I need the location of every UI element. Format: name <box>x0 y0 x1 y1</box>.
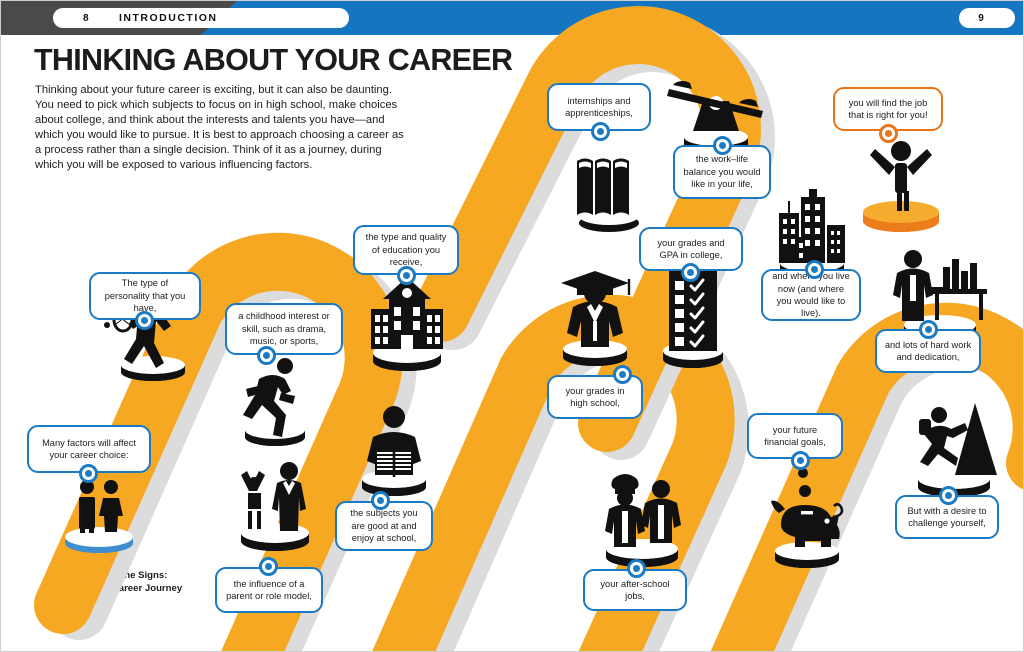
infographic-page: 8 INTRODUCTION 9 THINKING ABOUT YOUR CAR… <box>0 0 1024 652</box>
celebrating-person-icon <box>851 129 951 229</box>
callout-dot-financial <box>791 451 810 470</box>
callout-childhood[interactable]: a childhood interest or skill, such as d… <box>225 303 343 355</box>
reader-icon <box>343 401 445 501</box>
right-page-number: 9 <box>978 13 984 24</box>
callout-dot-education <box>397 266 416 285</box>
station-reader <box>343 401 445 501</box>
callout-dot-work-life <box>713 136 732 155</box>
station-checklist <box>647 267 739 371</box>
family-icon <box>221 453 329 555</box>
chef-workers-icon <box>587 467 697 571</box>
callout-dot-factors <box>79 464 98 483</box>
callout-dot-personality <box>135 311 154 330</box>
graduate-icon <box>547 263 643 373</box>
callout-dot-after-school <box>627 559 646 578</box>
callout-dot-hs-grades <box>613 365 632 384</box>
station-graduate <box>547 263 643 373</box>
station-success <box>851 129 951 229</box>
school-building-icon <box>353 273 461 377</box>
two-people-icon <box>53 471 145 561</box>
callout-dot-childhood <box>257 346 276 365</box>
callout-dot-find-job <box>879 124 898 143</box>
callout-dot-role-model <box>259 557 278 576</box>
climber-icon <box>899 397 1009 501</box>
station-books <box>561 151 657 231</box>
station-piggy-bank <box>757 469 857 569</box>
callout-dot-subjects <box>371 491 390 510</box>
callout-dot-college-gpa <box>681 263 700 282</box>
callout-dot-where-live <box>805 260 824 279</box>
station-runner <box>229 349 321 453</box>
books-icon <box>561 151 657 231</box>
station-climber <box>899 397 1009 501</box>
runner-icon <box>229 349 321 453</box>
callout-dot-challenge <box>939 486 958 505</box>
station-two-people <box>53 471 145 561</box>
callout-dot-internships <box>591 122 610 141</box>
station-school <box>353 273 461 377</box>
piggy-bank-icon <box>757 469 857 569</box>
checklist-icon <box>647 267 739 371</box>
station-after-school-jobs <box>587 467 697 571</box>
callout-dot-hard-work <box>919 320 938 339</box>
station-family <box>221 453 329 555</box>
